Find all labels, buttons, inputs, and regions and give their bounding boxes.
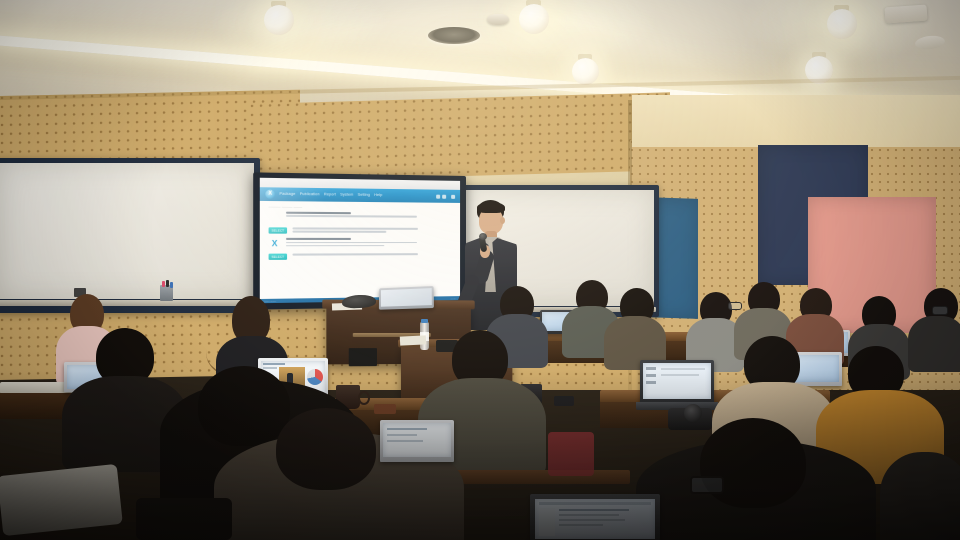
marker-pen xyxy=(170,282,173,288)
laptop-screen xyxy=(643,363,711,399)
chair-back-red xyxy=(548,432,594,476)
eyeglasses-icon xyxy=(690,476,724,494)
chair-back xyxy=(136,498,232,540)
attendee-laptop[interactable] xyxy=(380,420,454,462)
camera-lens-icon xyxy=(684,404,702,422)
page-body: ........... .......... ........ SELECT xyxy=(260,201,460,299)
row-line xyxy=(292,254,418,256)
row-line xyxy=(286,242,417,244)
row-text xyxy=(286,212,452,220)
status-left: ...... ........ xyxy=(264,299,276,302)
attendee-far-right xyxy=(880,452,960,540)
page-title: ........... .......... ........ xyxy=(269,204,453,210)
row-line xyxy=(286,245,384,247)
row-text xyxy=(292,253,452,257)
content-row xyxy=(269,212,453,224)
perforated-wall-panel xyxy=(250,92,670,182)
recessed-downlight-icon xyxy=(428,27,480,44)
globe-light-2 xyxy=(519,4,549,34)
microphone-head-icon xyxy=(479,233,487,240)
x-icon: X xyxy=(269,238,281,250)
select-button[interactable]: SELECT xyxy=(269,227,288,233)
menu-item-package[interactable]: Package xyxy=(279,192,295,196)
globe-light-1 xyxy=(264,5,294,35)
menu-item-setting[interactable]: Setting xyxy=(358,193,370,197)
presenter-ear xyxy=(500,217,505,224)
eyeglasses-icon xyxy=(728,302,742,310)
ceiling-vent xyxy=(884,5,927,24)
app-logo-icon: X xyxy=(265,189,275,199)
desk-object xyxy=(374,404,396,414)
row-line xyxy=(292,227,418,229)
podium-vent xyxy=(349,348,377,366)
row-icon xyxy=(269,212,281,224)
whiteboard-tray xyxy=(0,300,258,306)
attendee-laptop[interactable] xyxy=(640,360,714,404)
row-text xyxy=(292,227,452,234)
content-row: SELECT xyxy=(269,253,453,260)
podium-laptop[interactable] xyxy=(379,286,434,310)
app-header-actions xyxy=(436,194,455,198)
menu-item-report[interactable]: Report xyxy=(324,193,336,197)
marker-pen xyxy=(162,281,165,287)
right-wall-upper xyxy=(632,95,960,147)
presenter-hair-front xyxy=(477,202,505,213)
foreground-laptop[interactable] xyxy=(530,494,660,540)
projection-screen[interactable]: X Package Publication Report System Sett… xyxy=(253,172,466,309)
document-window xyxy=(535,499,655,539)
mug-handle xyxy=(358,391,370,405)
paper-sheet xyxy=(400,335,426,345)
row-line xyxy=(286,215,417,217)
menu-item-publication[interactable]: Publication xyxy=(300,193,320,197)
row-title-line xyxy=(286,212,351,214)
seminar-room-photo: X Package Publication Report System Sett… xyxy=(0,0,960,540)
row-text xyxy=(286,238,452,248)
chair-back xyxy=(0,464,123,536)
globe-light-4 xyxy=(827,9,857,39)
laptop-screen xyxy=(383,423,451,457)
row-line xyxy=(292,231,386,233)
menu-item-help[interactable]: Help xyxy=(374,194,382,198)
podium-laptop-screen xyxy=(381,288,432,307)
attendee-glasses-right xyxy=(908,316,960,372)
left-whiteboard-frame xyxy=(0,158,260,313)
content-row: SELECT xyxy=(269,227,453,234)
content-row: X xyxy=(269,238,453,250)
eyeglasses-icon xyxy=(932,306,948,315)
water-bottle-cap xyxy=(421,319,428,323)
header-icon[interactable] xyxy=(442,194,446,198)
left-whiteboard xyxy=(0,163,254,299)
attendee-hair xyxy=(198,366,290,446)
smartphone[interactable] xyxy=(554,396,574,406)
attendee-hair xyxy=(700,418,806,508)
menu-item-system[interactable]: System xyxy=(340,193,353,197)
header-icon[interactable] xyxy=(451,194,455,198)
marker-pen xyxy=(166,280,169,287)
globe-light-3 xyxy=(572,58,599,85)
select-button[interactable]: SELECT xyxy=(269,254,288,260)
smoke-detector-icon xyxy=(487,14,509,25)
attendee-hair xyxy=(276,408,376,490)
row-title-line xyxy=(286,238,351,240)
projection-screen-content: X Package Publication Report System Sett… xyxy=(260,178,460,303)
header-icon[interactable] xyxy=(436,194,440,198)
